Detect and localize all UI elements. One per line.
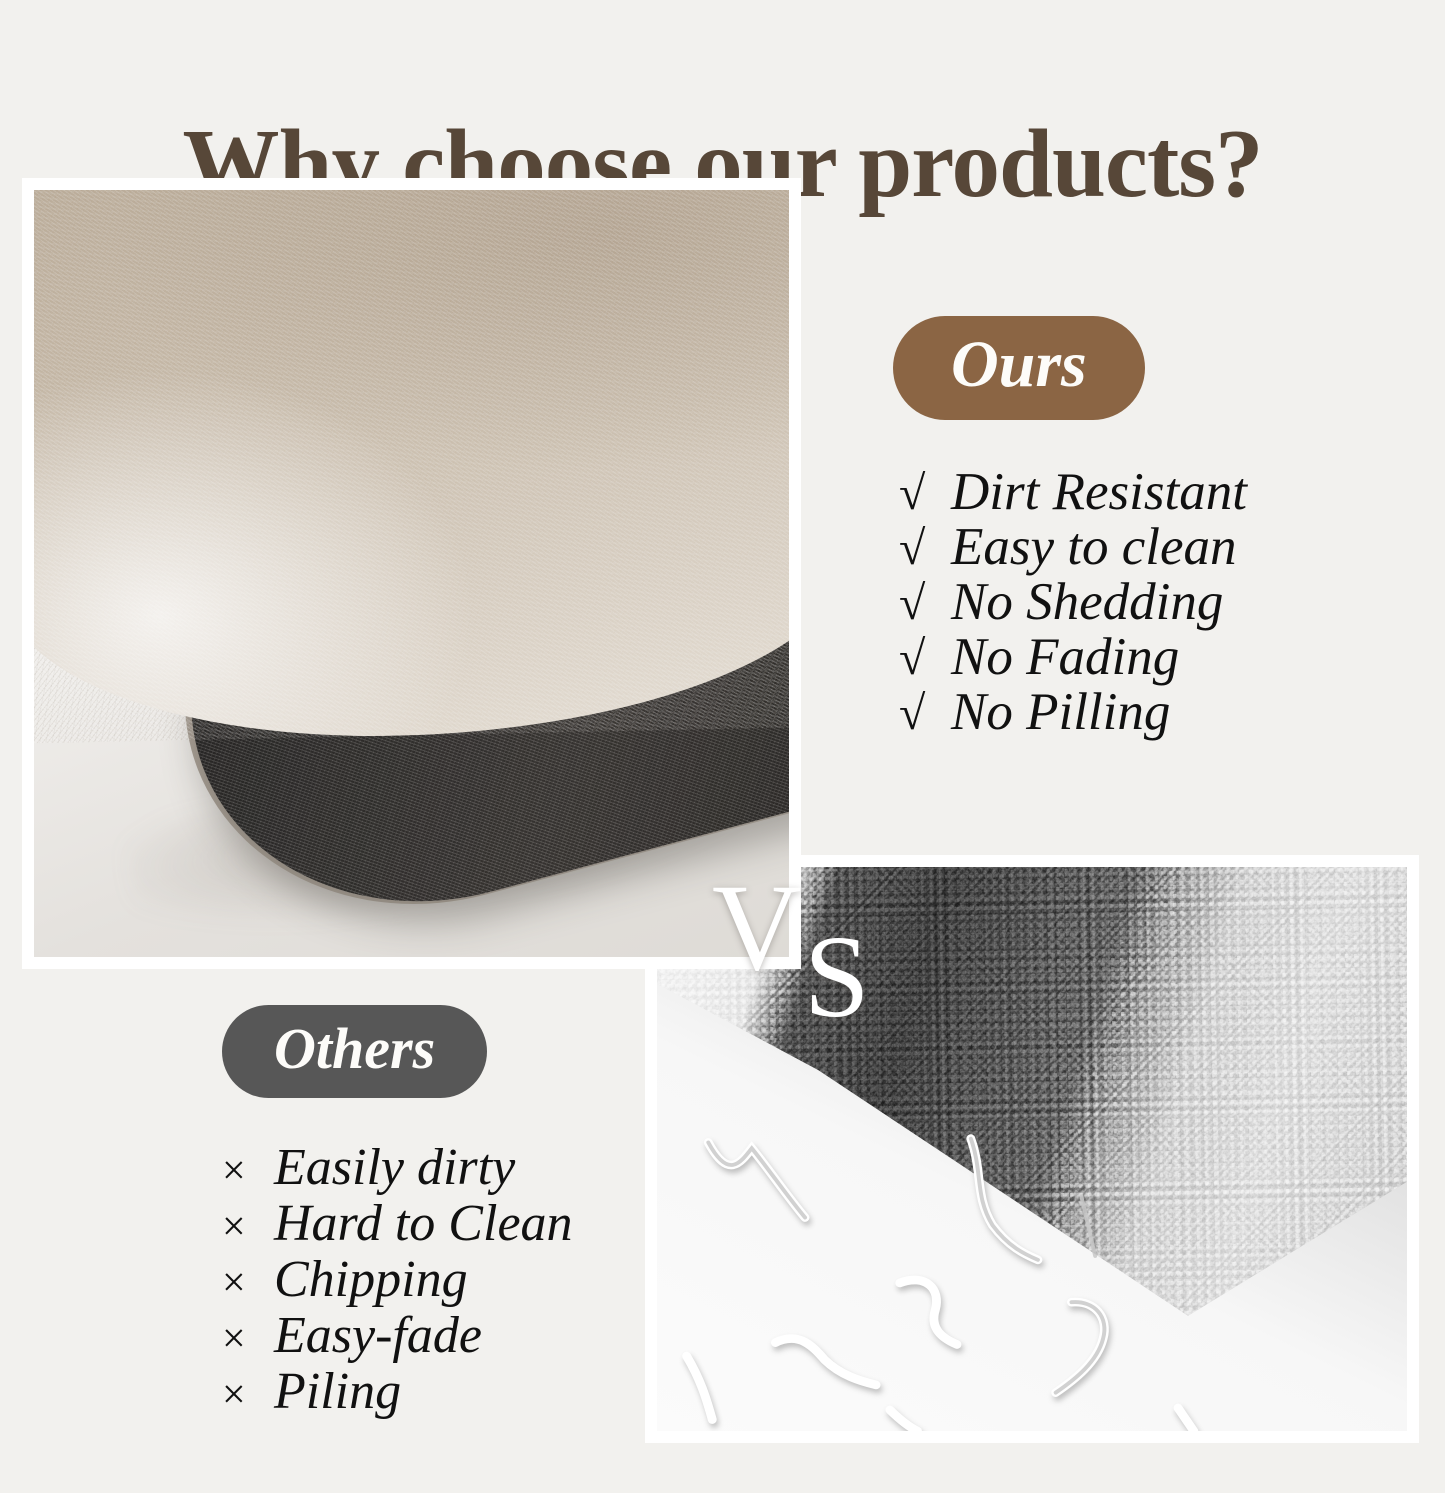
ours-panel: Ours √ Dirt Resistant √ Easy to clean √ … (893, 316, 1247, 737)
others-feature-label: Chipping (274, 1250, 468, 1309)
suede-grain-texture (34, 190, 789, 743)
others-feature-label: Piling (274, 1362, 401, 1421)
list-item: √ No Fading (899, 627, 1247, 682)
ours-feature-label: Dirt Resistant (951, 462, 1247, 522)
list-item: √ Dirt Resistant (899, 462, 1247, 517)
check-icon: √ (899, 631, 951, 686)
cross-icon: × (222, 1315, 274, 1363)
check-icon: √ (899, 466, 951, 521)
ours-feature-label: No Shedding (951, 572, 1223, 632)
list-item: × Easily dirty (222, 1138, 573, 1194)
cross-icon: × (222, 1203, 274, 1251)
list-item: × Chipping (222, 1250, 573, 1306)
list-item: × Piling (222, 1362, 573, 1418)
comparison-infographic: Why choose our products? (0, 0, 1445, 1493)
shed-threads (657, 1104, 1407, 1431)
suede-top-surface (34, 190, 789, 743)
list-item: × Hard to Clean (222, 1194, 573, 1250)
cross-icon: × (222, 1259, 274, 1307)
list-item: √ No Shedding (899, 572, 1247, 627)
ours-product-photo-frame (22, 178, 801, 969)
list-item: √ No Pilling (899, 682, 1247, 737)
ours-feature-label: Easy to clean (951, 517, 1237, 577)
others-panel: Others × Easily dirty × Hard to Clean × … (222, 1005, 573, 1418)
list-item: √ Easy to clean (899, 517, 1247, 572)
list-item: × Easy-fade (222, 1306, 573, 1362)
ours-badge: Ours (893, 316, 1145, 420)
cross-icon: × (222, 1371, 274, 1419)
suede-mat-image (34, 190, 789, 957)
ours-feature-list: √ Dirt Resistant √ Easy to clean √ No Sh… (899, 462, 1247, 737)
ours-product-photo (34, 190, 789, 957)
others-badge: Others (222, 1005, 487, 1098)
ours-feature-label: No Pilling (951, 682, 1170, 742)
check-icon: √ (899, 521, 951, 576)
others-feature-label: Easily dirty (274, 1138, 515, 1197)
check-icon: √ (899, 686, 951, 741)
ours-feature-label: No Fading (951, 627, 1179, 687)
others-feature-label: Easy-fade (274, 1306, 482, 1365)
check-icon: √ (899, 576, 951, 631)
others-feature-list: × Easily dirty × Hard to Clean × Chippin… (222, 1138, 573, 1418)
cross-icon: × (222, 1147, 274, 1195)
others-feature-label: Hard to Clean (274, 1194, 573, 1253)
